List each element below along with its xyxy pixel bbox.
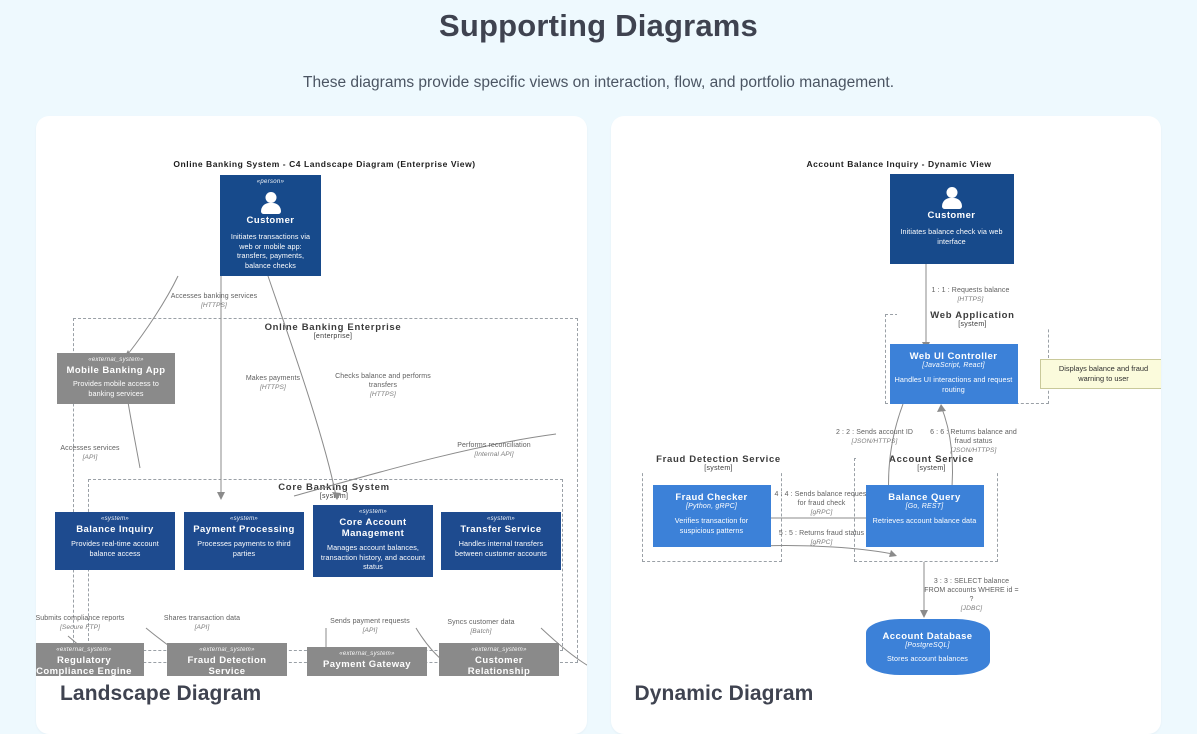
node-fraud-detection-service[interactable]: «external_system» Fraud Detection Servic… (167, 643, 287, 676)
node-payment-gateway[interactable]: «external_system» Payment Gateway (307, 647, 427, 676)
edge-label-checks-balance: Checks balance and performs transfers [H… (331, 364, 435, 408)
node-balance-inquiry[interactable]: «system» Balance Inquiry Provides real-t… (55, 512, 175, 570)
card-landscape-title: Landscape Diagram (60, 682, 261, 706)
dynamic-diagram-canvas[interactable]: Account Balance Inquiry - Dynamic View W… (611, 116, 1162, 676)
edge-label-shares-transaction-data: Shares transaction data [API] (154, 606, 250, 641)
node-customer[interactable]: «person» Customer Initiates transactions… (220, 175, 321, 276)
dynamic-edges (611, 116, 1162, 676)
edge-label-makes-payments: Makes payments [HTTPS] (228, 366, 318, 401)
edge-label-syncs-customer-data: Syncs customer data [Batch] (426, 610, 536, 645)
card-dynamic-footer: Dynamic Diagram (611, 676, 1162, 734)
landscape-diagram: Online Banking System - C4 Landscape Dia… (36, 116, 587, 676)
node-account-database[interactable]: Account Database [PostgreSQL] Stores acc… (866, 619, 990, 675)
edge-label-requests-balance: 1 : 1 : Requests balance [HTTPS] (929, 278, 1013, 313)
page-root: Supporting Diagrams These diagrams provi… (0, 0, 1197, 734)
card-dynamic-title: Dynamic Diagram (635, 682, 814, 706)
diagram-cards: Online Banking System - C4 Landscape Dia… (36, 116, 1161, 734)
node-mobile-banking-app[interactable]: «external_system» Mobile Banking App Pro… (57, 353, 175, 404)
page-title: Supporting Diagrams (0, 4, 1197, 48)
card-dynamic-diagram[interactable]: Account Balance Inquiry - Dynamic View W… (611, 116, 1162, 734)
edge-label-returns-fraud-status: 5 : 5 : Returns fraud status [gRPC] (776, 521, 868, 556)
node-core-account-management[interactable]: «system» Core Account Management Manages… (313, 505, 433, 577)
edge-label-sends-balance-request-for-fraud-check: 4 : 4 : Sends balance request for fraud … (774, 482, 870, 526)
edge-label-accesses-banking-services: Accesses banking services [HTTPS] (162, 284, 266, 319)
card-landscape-diagram[interactable]: Online Banking System - C4 Landscape Dia… (36, 116, 587, 734)
landscape-diagram-canvas[interactable]: Online Banking System - C4 Landscape Dia… (36, 116, 587, 676)
edge-label-submits-compliance-reports: Submits compliance reports [Secure FTP] (36, 606, 132, 641)
node-transfer-service[interactable]: «system» Transfer Service Handles intern… (441, 512, 561, 570)
node-customer[interactable]: Customer Initiates balance check via web… (890, 174, 1014, 264)
node-balance-query[interactable]: Balance Query [Go, REST] Retrieves accou… (866, 485, 984, 547)
edge-label-accesses-services: Accesses services [API] (42, 436, 138, 471)
node-customer-relationship[interactable]: «external_system» Customer Relationship (439, 643, 559, 676)
note-displays-balance: Displays balance and fraud warning to us… (1040, 359, 1162, 389)
card-landscape-footer: Landscape Diagram (36, 676, 587, 734)
edge-label-sends-account-id: 2 : 2 : Sends account ID [JSON/HTTPS] (834, 420, 916, 455)
edge-label-sends-payment-requests: Sends payment requests [API] (326, 609, 414, 644)
page-subtitle: These diagrams provide specific views on… (0, 74, 1197, 92)
person-icon (939, 187, 965, 209)
edge-label-returns-balance-and-fraud-status: 6 : 6 : Returns balance and fraud status… (924, 420, 1024, 464)
node-web-ui-controller[interactable]: Web UI Controller [JavaScript, React] Ha… (890, 344, 1018, 404)
edge-label-select-balance: 3 : 3 : SELECT balance FROM accounts WHE… (924, 569, 1020, 622)
dynamic-diagram: Account Balance Inquiry - Dynamic View W… (611, 116, 1162, 676)
person-icon (258, 192, 284, 214)
node-payment-processing[interactable]: «system» Payment Processing Processes pa… (184, 512, 304, 570)
page-header: Supporting Diagrams These diagrams provi… (0, 0, 1197, 92)
edge-label-performs-reconciliation: Performs reconciliation [Internal API] (448, 433, 540, 468)
node-fraud-checker[interactable]: Fraud Checker [Python, gRPC] Verifies tr… (653, 485, 771, 547)
node-regulatory-compliance-engine[interactable]: «external_system» Regulatory Compliance … (36, 643, 144, 676)
